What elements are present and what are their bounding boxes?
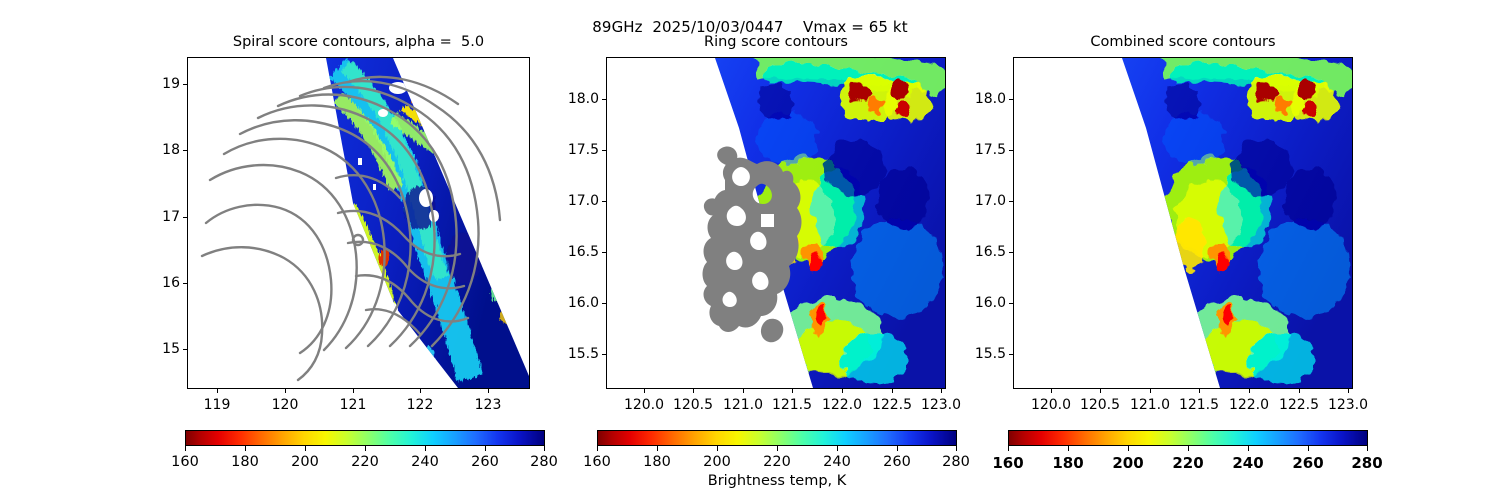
ytick-label: 17.0 [975,193,1006,209]
colorbar-tick-label: 240 [823,454,851,470]
xtick-label: 121 [340,397,367,413]
colorbar-tick-label: 280 [1351,454,1382,472]
ytick-label: 18.0 [568,91,599,107]
xtick-label: 123.0 [921,397,961,413]
xtick-label: 122 [407,397,434,413]
xtick-label: 120.5 [1080,397,1120,413]
xtick-label: 121.5 [772,397,812,413]
panel-ring-plot [607,58,945,388]
colorbar-tick-label: 180 [1052,454,1083,472]
ytick-label: 19 [162,76,180,92]
colorbar-tick-label: 220 [351,454,379,470]
ytick-label: 16.5 [568,244,599,260]
xtick-label: 121.5 [1179,397,1219,413]
ytick-label: 16 [162,275,180,291]
colorbar-ring[interactable]: 160 180 200 220 240 260 280 [597,430,957,446]
colorbar-tick-label: 280 [530,454,558,470]
colorbar-tick-label: 160 [992,454,1023,472]
ytick-label: 17.5 [568,142,599,158]
ytick-label: 15 [162,341,180,357]
ytick-label: 17.5 [975,142,1006,158]
figure-canvas: 89GHz 2025/10/03/0447 Vmax = 65 kt Spira… [0,0,1500,500]
colorbar-tick-label: 200 [703,454,731,470]
colorbar-tick-label: 280 [942,454,970,470]
xtick-label: 120.0 [624,397,664,413]
colorbar-gradient [597,430,957,446]
xtick-label: 122.0 [822,397,862,413]
colorbar-tick-label: 160 [583,454,611,470]
xtick-label: 121.0 [1130,397,1170,413]
ytick-label: 18 [162,142,180,158]
colorbar-spiral[interactable]: 160 180 200 220 240 260 280 [185,430,545,446]
colorbar-tick-label: 160 [171,454,199,470]
ring-contour-region [703,147,802,343]
colorbar-tick-label: 180 [231,454,259,470]
colorbar-tick-label: 260 [883,454,911,470]
xtick-label: 123 [475,397,502,413]
ytick-label: 17 [162,209,180,225]
ytick-label: 18.0 [975,91,1006,107]
xtick-label: 120.0 [1031,397,1071,413]
xtick-label: 120 [272,397,299,413]
panel-spiral-axes[interactable] [187,57,530,389]
colorbar-axis-label: Brightness temp, K [708,473,847,489]
ytick-label: 16.0 [568,295,599,311]
xtick-label: 121.0 [723,397,763,413]
xtick-label: 122.0 [1229,397,1269,413]
ytick-label: 16.5 [975,244,1006,260]
storm-center-marker [761,214,774,227]
panel-combined-axes[interactable] [1013,57,1353,389]
xtick-label: 123.0 [1328,397,1368,413]
colorbar-gradient [185,430,545,446]
colorbar-tick-label: 200 [291,454,319,470]
colorbar-tick-label: 240 [1232,454,1263,472]
xtick-label: 120.5 [673,397,713,413]
colorbar-gradient [1008,430,1368,446]
panel-ring-axes[interactable] [606,57,946,389]
colorbar-tick-label: 240 [411,454,439,470]
xtick-label: 119 [204,397,231,413]
colorbar-combined[interactable]: 160 180 200 220 240 260 280 [1008,430,1368,446]
panel-spiral-title: Spiral score contours, alpha = 5.0 [187,34,530,50]
ytick-label: 17.0 [568,193,599,209]
panel-combined-title: Combined score contours [1013,34,1353,50]
colorbar-tick-label: 260 [471,454,499,470]
xtick-label: 122.5 [1279,397,1319,413]
xtick-label: 122.5 [872,397,912,413]
colorbar-tick-label: 220 [763,454,791,470]
colorbar-tick-label: 180 [643,454,671,470]
colorbar-tick-label: 220 [1172,454,1203,472]
ytick-label: 15.5 [975,346,1006,362]
panel-ring: Ring score contours [606,57,946,389]
panel-combined: Combined score contours [1013,57,1353,389]
ytick-label: 16.0 [975,295,1006,311]
panel-ring-title: Ring score contours [606,34,946,50]
colorbar-tick-label: 260 [1292,454,1323,472]
panel-combined-plot [1014,58,1352,388]
panel-spiral: Spiral score contours, alpha = 5.0 [187,57,530,389]
panel-spiral-plot [188,58,529,388]
ytick-label: 15.5 [568,346,599,362]
colorbar-tick-label: 200 [1112,454,1143,472]
